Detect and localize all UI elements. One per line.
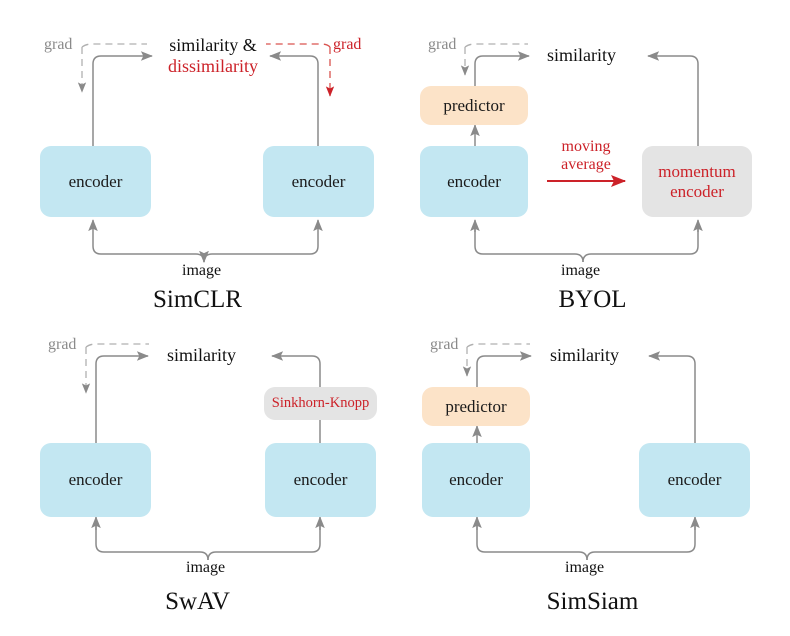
- box-encoder-right[interactable]: encoder: [639, 443, 750, 517]
- dashed-grad-right-horizontal: [266, 44, 330, 47]
- label-grad-left: grad: [48, 336, 76, 355]
- box-label: encoder: [447, 172, 501, 191]
- box-label: encoder: [668, 470, 722, 489]
- box-momentum-encoder[interactable]: momentum encoder: [642, 146, 752, 217]
- moving-average-line2: average: [561, 156, 611, 173]
- box-encoder-left[interactable]: encoder: [40, 443, 151, 517]
- label-image: image: [561, 262, 600, 281]
- box-predictor[interactable]: predictor: [420, 86, 528, 125]
- arrow-right-encoder-to-similarity: [649, 356, 695, 443]
- dissimilarity-text: dissimilarity: [158, 56, 268, 77]
- label-similarity-dissimilarity: similarity & dissimilarity: [158, 35, 268, 77]
- dashed-grad-horizontal: [86, 344, 149, 347]
- brace-image-left: [93, 224, 204, 262]
- panel-swav: grad similarity Sinkhorn-Knopp encoder e…: [0, 318, 395, 636]
- box-label: Sinkhorn-Knopp: [272, 395, 369, 411]
- box-label: predictor: [443, 96, 504, 115]
- label-grad-left: grad: [428, 36, 456, 55]
- box-label: encoder: [69, 470, 123, 489]
- box-label-line1: momentum: [658, 162, 735, 181]
- label-similarity: similarity: [167, 345, 236, 366]
- box-label: encoder: [69, 172, 123, 191]
- brace-image-left: [96, 521, 208, 560]
- arrow-predictor-to-similarity: [475, 56, 529, 86]
- box-encoder-right[interactable]: encoder: [265, 443, 376, 517]
- box-label: encoder: [294, 470, 348, 489]
- label-image: image: [565, 559, 604, 578]
- arrow-right-encoder-to-similarity: [270, 56, 318, 146]
- similarity-text: similarity &: [169, 35, 257, 55]
- panel-byol: grad similarity predictor encoder moment…: [395, 0, 790, 318]
- arrow-momentum-to-similarity: [648, 56, 698, 146]
- box-label: predictor: [445, 397, 506, 416]
- arrow-left-encoder-to-similarity: [93, 56, 152, 146]
- dashed-grad-horizontal: [467, 344, 530, 347]
- brace-image-right: [587, 521, 695, 560]
- label-image: image: [182, 262, 221, 281]
- brace-image-right: [583, 224, 698, 262]
- panel-title-simsiam: SimSiam: [395, 588, 790, 616]
- brace-image-left: [477, 521, 587, 560]
- panel-simsiam: grad similarity predictor encoder encode…: [395, 318, 790, 636]
- label-grad-right: grad: [333, 36, 361, 55]
- box-sinkhorn-knopp[interactable]: Sinkhorn-Knopp: [264, 387, 377, 420]
- label-similarity: similarity: [547, 45, 616, 66]
- label-image: image: [186, 559, 225, 578]
- box-encoder-left[interactable]: encoder: [420, 146, 528, 217]
- panel-title-swav: SwAV: [0, 588, 395, 616]
- panel-title-simclr: SimCLR: [0, 286, 395, 314]
- brace-image-left: [475, 224, 583, 262]
- dashed-grad-horizontal: [465, 44, 528, 47]
- label-grad-left: grad: [430, 336, 458, 355]
- box-label: encoder: [449, 470, 503, 489]
- label-similarity: similarity: [550, 345, 619, 366]
- box-encoder-right[interactable]: encoder: [263, 146, 374, 217]
- label-moving-average: moving average: [547, 138, 625, 174]
- arrow-left-encoder-to-similarity: [96, 356, 148, 443]
- brace-image-right: [204, 224, 318, 262]
- box-encoder-left[interactable]: encoder: [40, 146, 151, 217]
- moving-average-line1: moving: [562, 138, 611, 155]
- arrow-predictor-to-similarity: [477, 356, 531, 387]
- box-label: encoder: [292, 172, 346, 191]
- arrow-sinkhorn-to-similarity: [272, 356, 320, 387]
- dashed-grad-left-horizontal: [82, 44, 147, 47]
- box-predictor[interactable]: predictor: [422, 387, 530, 426]
- panel-title-byol: BYOL: [395, 286, 790, 314]
- box-encoder-left[interactable]: encoder: [422, 443, 530, 517]
- brace-image-right: [208, 521, 320, 560]
- label-grad-left: grad: [44, 36, 72, 55]
- panel-simclr: grad grad similarity & dissimilarity enc…: [0, 0, 395, 318]
- box-label-line2: encoder: [670, 182, 724, 201]
